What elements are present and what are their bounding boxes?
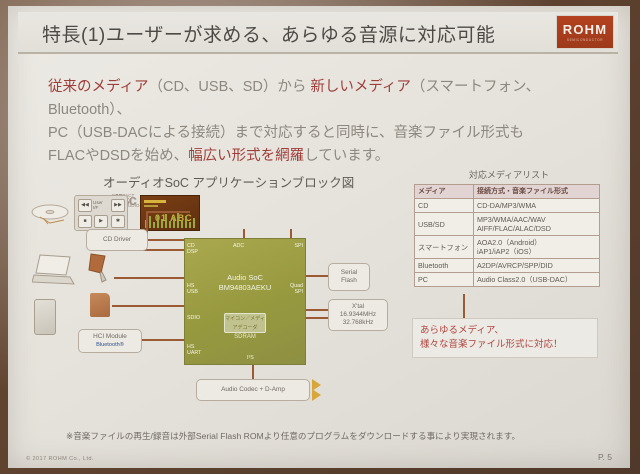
- callout-line-1: あらゆるメディア、: [420, 324, 590, 338]
- sd-card-icon: [90, 293, 110, 317]
- body-line-3: FLACやDSDを始め、幅広い形式を網羅しています。: [48, 145, 588, 168]
- copyright: © 2017 ROHM Co., Ltd.: [26, 456, 94, 462]
- soc-name: Audio SoC BM94803AEKU: [185, 273, 305, 293]
- body-line-1: 従来のメディア（CD、USB、SD）から 新しいメディア（スマートフォン、Blu…: [48, 76, 588, 122]
- pin-adc: ADC: [233, 243, 244, 249]
- rohm-logo-mark: ROHM: [563, 23, 608, 36]
- table-header-formats: 接続方式・音楽ファイル形式: [474, 185, 600, 199]
- body-highlight-3: 幅広い形式を網羅: [188, 148, 304, 164]
- table-row: Bluetooth A2DP/AVRCP/SPP/DID: [415, 259, 600, 273]
- page-title: 特長(1)ユーザーが求める、あらゆる音源に対応可能: [42, 20, 495, 47]
- media-support-table: メディア 接続方式・音楽ファイル形式 CD CD-DA/MP3/WMA USB/…: [414, 184, 600, 287]
- table-cell-formats: MP3/WMA/AAC/WAV AIFF/FLAC/ALAC/DSD: [474, 213, 600, 236]
- cd-driver-node: CD Driver: [86, 229, 148, 251]
- table-cell-media: CD: [415, 199, 474, 213]
- user-if-label: User I/F: [93, 200, 103, 210]
- key-prev[interactable]: ◀◀: [78, 199, 92, 212]
- page-number: P. 5: [598, 452, 612, 462]
- xtal-node: X'tal 16.9344MHz 32.768kHz: [328, 299, 388, 331]
- table-row: CD CD-DA/MP3/WMA: [415, 199, 600, 213]
- table-cell-formats: CD-DA/MP3/WMA: [474, 199, 600, 213]
- table-cell-media: USB/SD: [415, 213, 474, 236]
- body-line-2: PC（USB-DACによる接続）まで対応すると同時に、音楽ファイル形式も: [48, 122, 588, 145]
- pin-sdio: SDIO: [187, 315, 200, 321]
- table-title: 対応メディアリスト: [414, 168, 604, 181]
- audio-soc-block: CD DSP HS USB SDIO HS UART ADC SPI Quad …: [184, 238, 306, 365]
- callout-box: あらゆるメディア、 様々な音楽ファイル形式に対応！: [412, 318, 598, 358]
- speaker-icon-bottom: [312, 389, 321, 401]
- body-text-3: FLACやDSDを始め、: [48, 148, 188, 164]
- table-row: USB/SD MP3/WMA/AAC/WAV AIFF/FLAC/ALAC/DS…: [415, 213, 600, 236]
- lcd-strip-second: [144, 205, 158, 207]
- slide-surface: 特長(1)ユーザーが求める、あらゆる音源に対応可能 ROHM SEMICONDU…: [8, 6, 630, 468]
- sdram-label: SDRAM: [234, 334, 256, 340]
- lcd-display: 01 ABC: [140, 195, 200, 231]
- diagram-title: オーディオSoC アプリケーションブロック図: [103, 172, 354, 191]
- body-text-1: （CD、USB、SD）から: [148, 79, 310, 95]
- pin-cd-dsp: CD DSP: [187, 243, 198, 255]
- table-cell-media: Bluetooth: [415, 259, 474, 273]
- table-cell-media: スマートフォン: [415, 236, 474, 259]
- hci-module-node: HCI Module Bluetooth®: [78, 329, 142, 353]
- table-row: スマートフォン AOA2.0（Android） iAP1/iAP2（iOS）: [415, 236, 600, 259]
- usb-drive-icon: [88, 253, 114, 283]
- smartphone-icon: [34, 299, 56, 335]
- laptop-icon: [32, 253, 76, 287]
- photo-backdrop: 特長(1)ユーザーが求める、あらゆる音源に対応可能 ROHM SEMICONDU…: [0, 0, 640, 474]
- body-text-4: しています。: [304, 148, 389, 164]
- sdram-block: マイコン／メディアデコーダ SDRAM: [208, 313, 282, 341]
- key-play[interactable]: ▶: [94, 215, 108, 228]
- serial-flash-node: Serial Flash: [328, 263, 370, 291]
- soc-name-line2: BM94803AEKU: [185, 283, 305, 293]
- mcu-decoder-chip: マイコン／メディアデコーダ: [224, 313, 266, 333]
- key-next[interactable]: ▶▶: [111, 199, 125, 212]
- table-header-row: メディア 接続方式・音楽ファイル形式: [415, 185, 600, 199]
- audio-codec-node: Audio Codec + D-Amp: [196, 379, 310, 401]
- body-highlight-1: 従来のメディア: [48, 79, 148, 95]
- table-row: PC Audio Class2.0（USB-DAC）: [415, 273, 600, 287]
- footnote: ※音楽ファイルの再生/録音は外部Serial Flash ROMより任意のプログ…: [66, 430, 586, 442]
- pin-i2s: I²S: [247, 355, 254, 361]
- slide-header: 特長(1)ユーザーが求める、あらゆる音源に対応可能 ROHM SEMICONDU…: [18, 12, 618, 54]
- rohm-logo-subtext: SEMICONDUCTOR: [567, 38, 603, 42]
- cd-disc-icon: [30, 203, 76, 225]
- soc-name-line1: Audio SoC: [185, 273, 305, 283]
- bluetooth-icon: Bluetooth®: [96, 341, 124, 349]
- callout-leader-line: [463, 294, 465, 318]
- pin-spi: SPI: [294, 243, 303, 249]
- user-interface-keypad[interactable]: User I/F ◀◀ ▶▶ ■ ▶ ✱: [74, 195, 128, 231]
- block-diagram: COMPACT disc DIGITAL AUDIO: [28, 191, 398, 406]
- key-stop[interactable]: ■: [78, 215, 92, 228]
- rohm-logo: ROHM SEMICONDUCTOR: [556, 15, 614, 49]
- body-paragraph: 従来のメディア（CD、USB、SD）から 新しいメディア（スマートフォン、Blu…: [48, 76, 588, 168]
- body-highlight-2: 新しいメディア: [310, 79, 410, 95]
- table-cell-formats: AOA2.0（Android） iAP1/iAP2（iOS）: [474, 236, 600, 259]
- table-cell-formats: A2DP/AVRCP/SPP/DID: [474, 259, 600, 273]
- table-cell-formats: Audio Class2.0（USB-DAC）: [474, 273, 600, 287]
- callout-line-2: 様々な音楽ファイル形式に対応！: [420, 338, 590, 352]
- hci-module-label: HCI Module: [93, 333, 127, 341]
- key-func[interactable]: ✱: [111, 215, 125, 228]
- pin-hs-uart: HS UART: [187, 344, 201, 356]
- lcd-strip-top: [144, 200, 166, 203]
- media-support-table-wrap: 対応メディアリスト メディア 接続方式・音楽ファイル形式 CD CD-DA/MP…: [414, 168, 604, 287]
- table-header-media: メディア: [415, 185, 474, 199]
- table-cell-media: PC: [415, 273, 474, 287]
